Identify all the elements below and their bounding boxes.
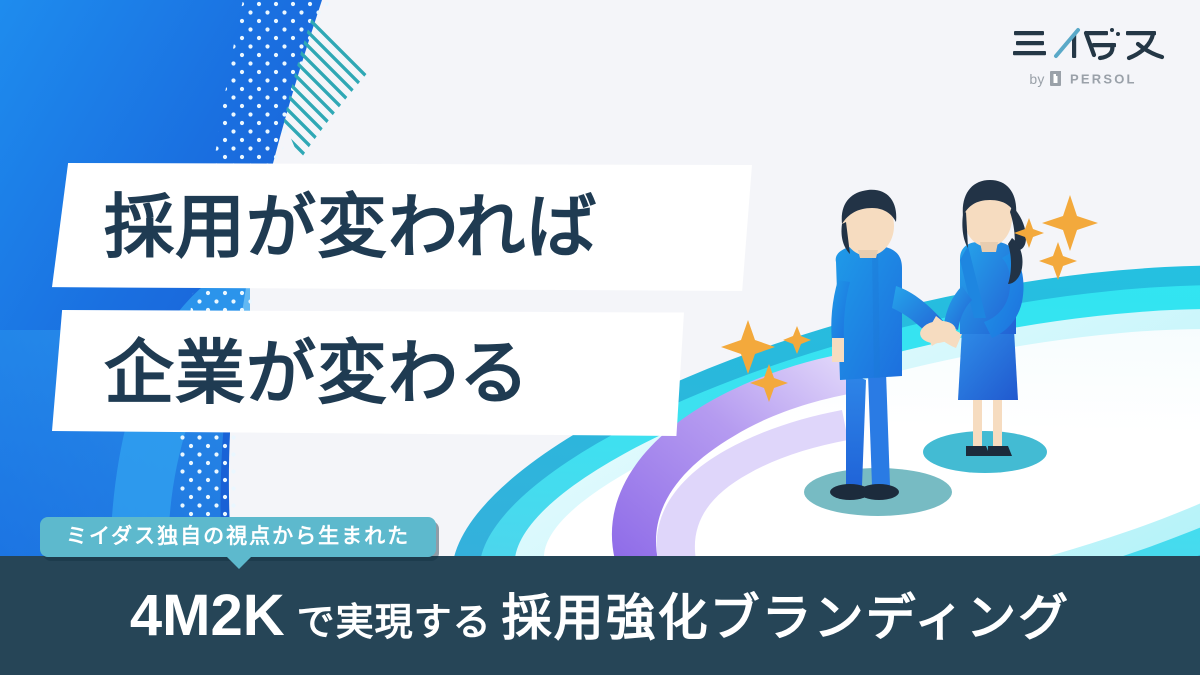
tagline-badge: ミイダス独自の視点から生まれた	[40, 517, 436, 557]
brand-logo: by PERSOL	[1012, 22, 1172, 87]
logo-by-label: by	[1029, 71, 1044, 87]
svg-text:PERSOL: PERSOL	[1070, 72, 1137, 87]
persol-logo-icon: PERSOL	[1050, 70, 1155, 87]
tagline-badge-label: ミイダス独自の視点から生まれた	[66, 524, 410, 548]
headline-group: 採用が変われば 企業が変わる	[0, 163, 752, 436]
badge-pointer-icon	[226, 556, 252, 569]
footer-main-text: 採用強化ブランディング	[502, 593, 1071, 643]
footer-bar: 4M2K で実現する 採用強化ブランディング	[0, 556, 1200, 675]
footer-connector: で実現する	[297, 603, 492, 641]
footer-headline: 4M2K で実現する 採用強化ブランディング	[130, 587, 1070, 645]
footer-product-name: 4M2K	[130, 587, 285, 645]
headline-line-1: 採用が変われば	[104, 192, 598, 262]
headline-line-2: 企業が変わる	[104, 338, 530, 408]
banner-canvas: by PERSOL 採用が変われば 企業が変わる ミイダス独自の視点から生まれた	[0, 0, 1200, 675]
headline-plate-1: 採用が変われば	[52, 163, 752, 291]
headline-plate-2: 企業が変わる	[52, 310, 684, 436]
midas-logo-icon	[1012, 22, 1172, 64]
